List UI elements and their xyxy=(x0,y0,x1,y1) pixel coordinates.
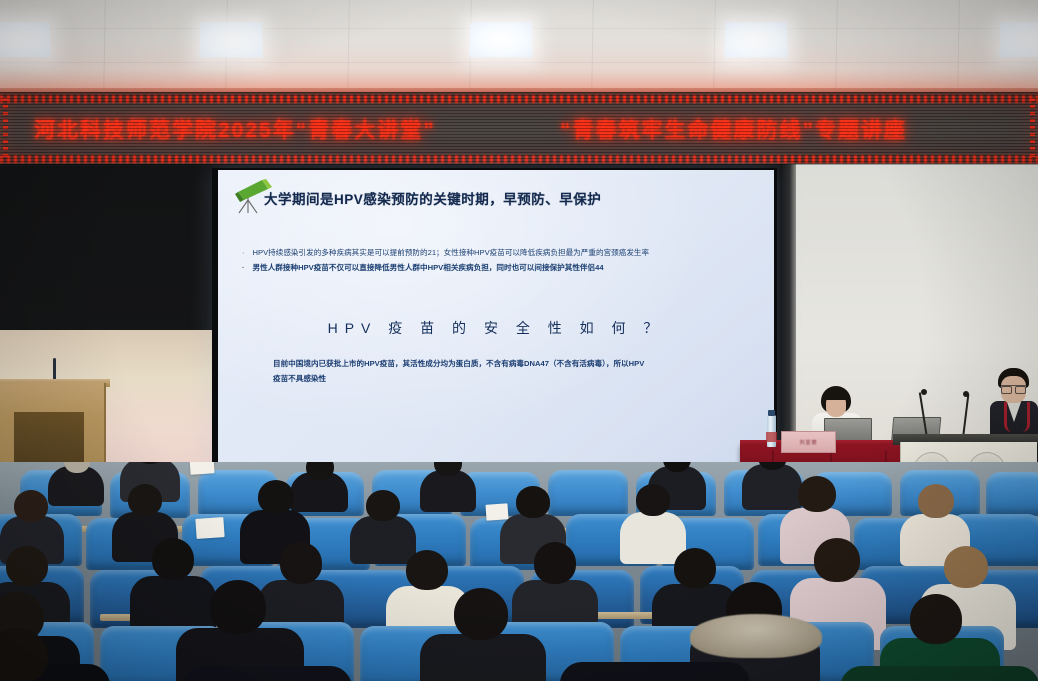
water-bottle-cap xyxy=(768,410,775,416)
audience-torso xyxy=(182,666,352,681)
bullet-dot: · xyxy=(242,261,245,274)
led-border-bottom xyxy=(0,155,1038,163)
led-border-top xyxy=(0,95,1038,103)
audience-torso xyxy=(420,634,546,681)
led-border-right xyxy=(1030,98,1035,160)
lecture-hall-photo: 河北科技师范学院2025年“青春大讲堂” “青春筑牢生命健康防线”专题讲座 大学… xyxy=(0,0,1038,681)
bullet-dot: · xyxy=(242,246,245,259)
audience-member xyxy=(620,484,686,556)
host-glasses-icon xyxy=(1001,385,1026,392)
audience-head xyxy=(280,542,322,584)
ceiling-panel-light xyxy=(0,23,51,57)
water-bottle-label xyxy=(766,432,777,442)
audience-head xyxy=(910,594,962,644)
handout-paper xyxy=(195,517,224,539)
slide-bullet-text: HPV持续感染引发的多种疾病其实是可以提前预防的21；女性接种HPV疫苗可以降低… xyxy=(253,246,650,259)
slide-title: 大学期间是HPV感染预防的关键时期，早预防、早保护 xyxy=(264,188,601,208)
audience-member xyxy=(420,462,476,504)
handout-paper xyxy=(189,462,214,475)
slide-paragraph-line-2: 疫苗不具感染性 xyxy=(273,371,733,386)
audience-head xyxy=(406,550,448,590)
audience-head xyxy=(128,484,162,516)
ceiling-panel-light xyxy=(999,23,1038,57)
audience-head xyxy=(6,546,48,586)
audience-torso xyxy=(560,662,750,681)
audience-member xyxy=(0,638,110,681)
seat xyxy=(986,472,1038,516)
audience-head xyxy=(210,580,266,634)
audience-torso xyxy=(420,470,476,512)
audience-member xyxy=(182,640,352,681)
audience-member xyxy=(420,588,546,681)
audience-head xyxy=(798,476,836,512)
audience-member xyxy=(350,490,416,556)
audience-head xyxy=(918,484,954,518)
ceiling-panel-light xyxy=(724,23,787,57)
water-bottle xyxy=(767,415,776,447)
audience-member xyxy=(840,642,1038,681)
slide-paragraph-line-1: 目前中国境内已获批上市的HPV疫苗，其活性成分均为蛋白质，不含有病毒DNA47（… xyxy=(273,359,644,368)
slide-paragraph: 目前中国境内已获批上市的HPV疫苗，其活性成分均为蛋白质，不含有病毒DNA47（… xyxy=(273,356,733,386)
audience-head xyxy=(516,486,550,518)
ceiling-panel-light xyxy=(199,23,262,57)
slide-section-heading: HPV 疫 苗 的 安 全 性 如 何 ？ xyxy=(218,318,774,338)
audience-head xyxy=(14,490,48,522)
audience-head xyxy=(944,546,988,588)
projection-screen: 大学期间是HPV感染预防的关键时期，早预防、早保护 · HPV持续感染引发的多种… xyxy=(218,170,774,480)
audience-head xyxy=(366,490,400,521)
led-banner-right-text: “青春筑牢生命健康防线”专题讲座 xyxy=(560,114,907,144)
podium-microphone-head xyxy=(921,389,927,395)
speaker-name-card: 刘亚丽 xyxy=(781,431,836,453)
slide-bullet-text: 男性人群接种HPV疫苗不仅可以直接降低男性人群中HPV相关疾病负担，同时也可以间… xyxy=(253,261,604,274)
led-banner-left-text: 河北科技师范学院2025年“青春大讲堂” xyxy=(34,114,436,144)
led-banner: 河北科技师范学院2025年“青春大讲堂” “青春筑牢生命健康防线”专题讲座 xyxy=(0,92,1038,166)
slide-bullet-item: · HPV持续感染引发的多种疾病其实是可以提前预防的21；女性接种HPV疫苗可以… xyxy=(242,246,762,259)
audience-head xyxy=(454,588,508,640)
audience-area xyxy=(0,462,1038,681)
audience-torso xyxy=(840,666,1038,681)
audience-head xyxy=(152,538,194,580)
audience-member xyxy=(560,634,750,681)
slide-bullet-item: · 男性人群接种HPV疫苗不仅可以直接降低男性人群中HPV相关疾病负担，同时也可… xyxy=(242,261,762,274)
host-lanyard xyxy=(1004,402,1030,432)
audience-head xyxy=(258,480,294,514)
led-border-left xyxy=(3,98,8,160)
podium-microphone-head xyxy=(963,391,969,397)
ceiling-panel-light xyxy=(469,23,532,57)
audience-head xyxy=(636,484,670,516)
speaker-name-card-text: 刘亚丽 xyxy=(799,439,817,446)
ceiling xyxy=(0,0,1038,96)
slide-bullet-list: · HPV持续感染引发的多种疾病其实是可以提前预防的21；女性接种HPV疫苗可以… xyxy=(242,246,762,276)
audience-head xyxy=(534,542,576,584)
speaker-fringe xyxy=(823,389,849,400)
audience-head xyxy=(814,538,860,582)
